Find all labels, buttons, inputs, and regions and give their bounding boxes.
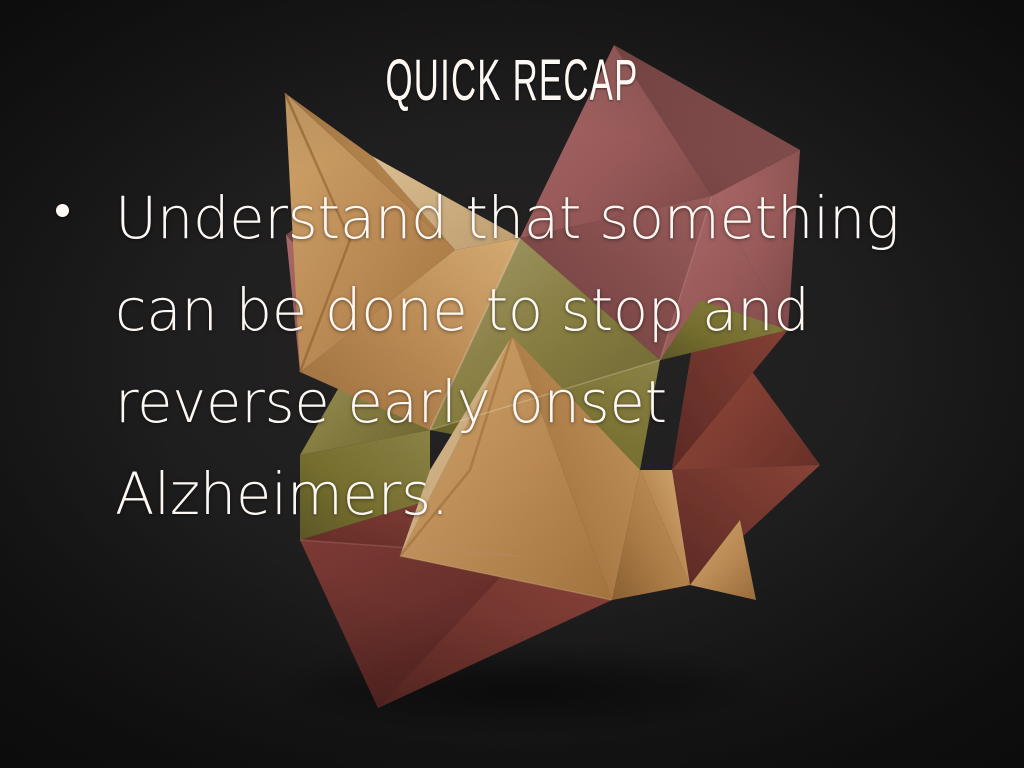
list-item: Understand that something can be done to… — [56, 172, 956, 540]
page-title: QUICK RECAP — [205, 52, 819, 110]
presentation-slide: QUICK RECAP Understand that something ca… — [0, 0, 1024, 768]
bullet-dot-icon — [56, 204, 69, 217]
bullet-list: Understand that something can be done to… — [56, 172, 956, 540]
bullet-text: Understand that something can be done to… — [115, 172, 948, 540]
slide-text-layer: QUICK RECAP Understand that something ca… — [0, 0, 1024, 768]
